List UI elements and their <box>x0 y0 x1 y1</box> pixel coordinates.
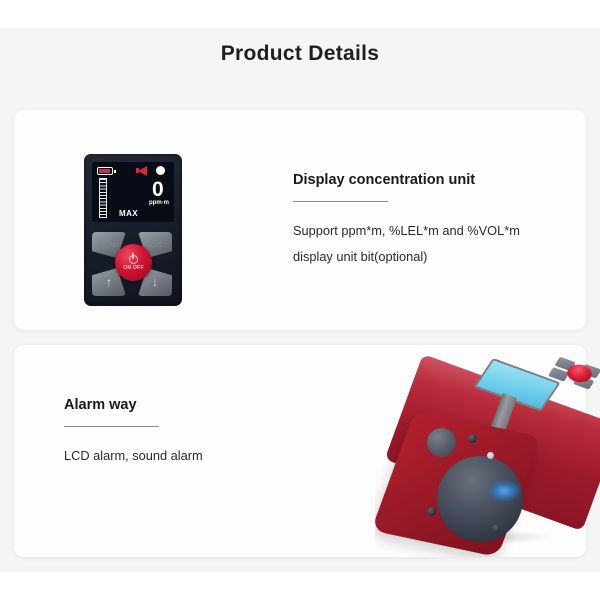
product-image-handheld-detector: 0 ppm·m MAX MENU ESC ↑ ↓ ON OFF <box>40 130 200 315</box>
battery-icon <box>97 167 113 175</box>
card-body-line: LCD alarm, sound alarm <box>64 443 203 469</box>
lcd-max-label: MAX <box>119 209 138 218</box>
device-keypad: MENU ESC ↑ ↓ ON OFF <box>90 230 176 300</box>
page-title: Product Details <box>0 42 600 66</box>
device-lcd-screen: 0 ppm·m MAX <box>92 162 174 222</box>
card-body-line: display unit bit(optional) <box>293 244 520 270</box>
product-image-angled-detector <box>375 352 600 557</box>
device-faceplate: 0 ppm·m MAX MENU ESC ↑ ↓ ON OFF <box>84 154 182 306</box>
card-body: LCD alarm, sound alarm <box>64 443 203 469</box>
card-body: Support ppm*m, %LEL*m and %VOL*m display… <box>293 218 520 269</box>
card-heading: Display concentration unit <box>293 172 520 188</box>
battery-fill <box>99 169 110 173</box>
product-details-page: Product Details 0 ppm·m MAX <box>0 0 600 600</box>
device-body: 0 ppm·m MAX MENU ESC ↑ ↓ ON OFF <box>52 138 188 310</box>
card-heading: Alarm way <box>64 397 203 413</box>
render-lens-glint <box>487 480 521 502</box>
render-screw <box>492 524 501 533</box>
bargraph-icon <box>99 178 107 218</box>
power-icon <box>129 255 138 264</box>
render-screw <box>427 507 436 516</box>
render-sensor-port <box>427 428 456 457</box>
text-block-alarm-way: Alarm way LCD alarm, sound alarm <box>64 397 203 469</box>
power-button-label: ON OFF <box>123 265 144 271</box>
lcd-reading-unit: ppm·m <box>149 200 169 206</box>
power-button[interactable]: ON OFF <box>115 244 152 281</box>
heading-divider <box>64 426 159 427</box>
render-screw <box>468 434 477 443</box>
text-block-display-concentration-unit: Display concentration unit Support ppm*m… <box>293 172 520 269</box>
lcd-reading-value: 0 <box>152 179 164 200</box>
indicator-dot-icon <box>156 166 165 175</box>
heading-divider <box>293 201 388 202</box>
render-led-indicator <box>487 452 494 459</box>
card-body-line: Support ppm*m, %LEL*m and %VOL*m <box>293 218 520 244</box>
speaker-icon <box>138 166 147 176</box>
